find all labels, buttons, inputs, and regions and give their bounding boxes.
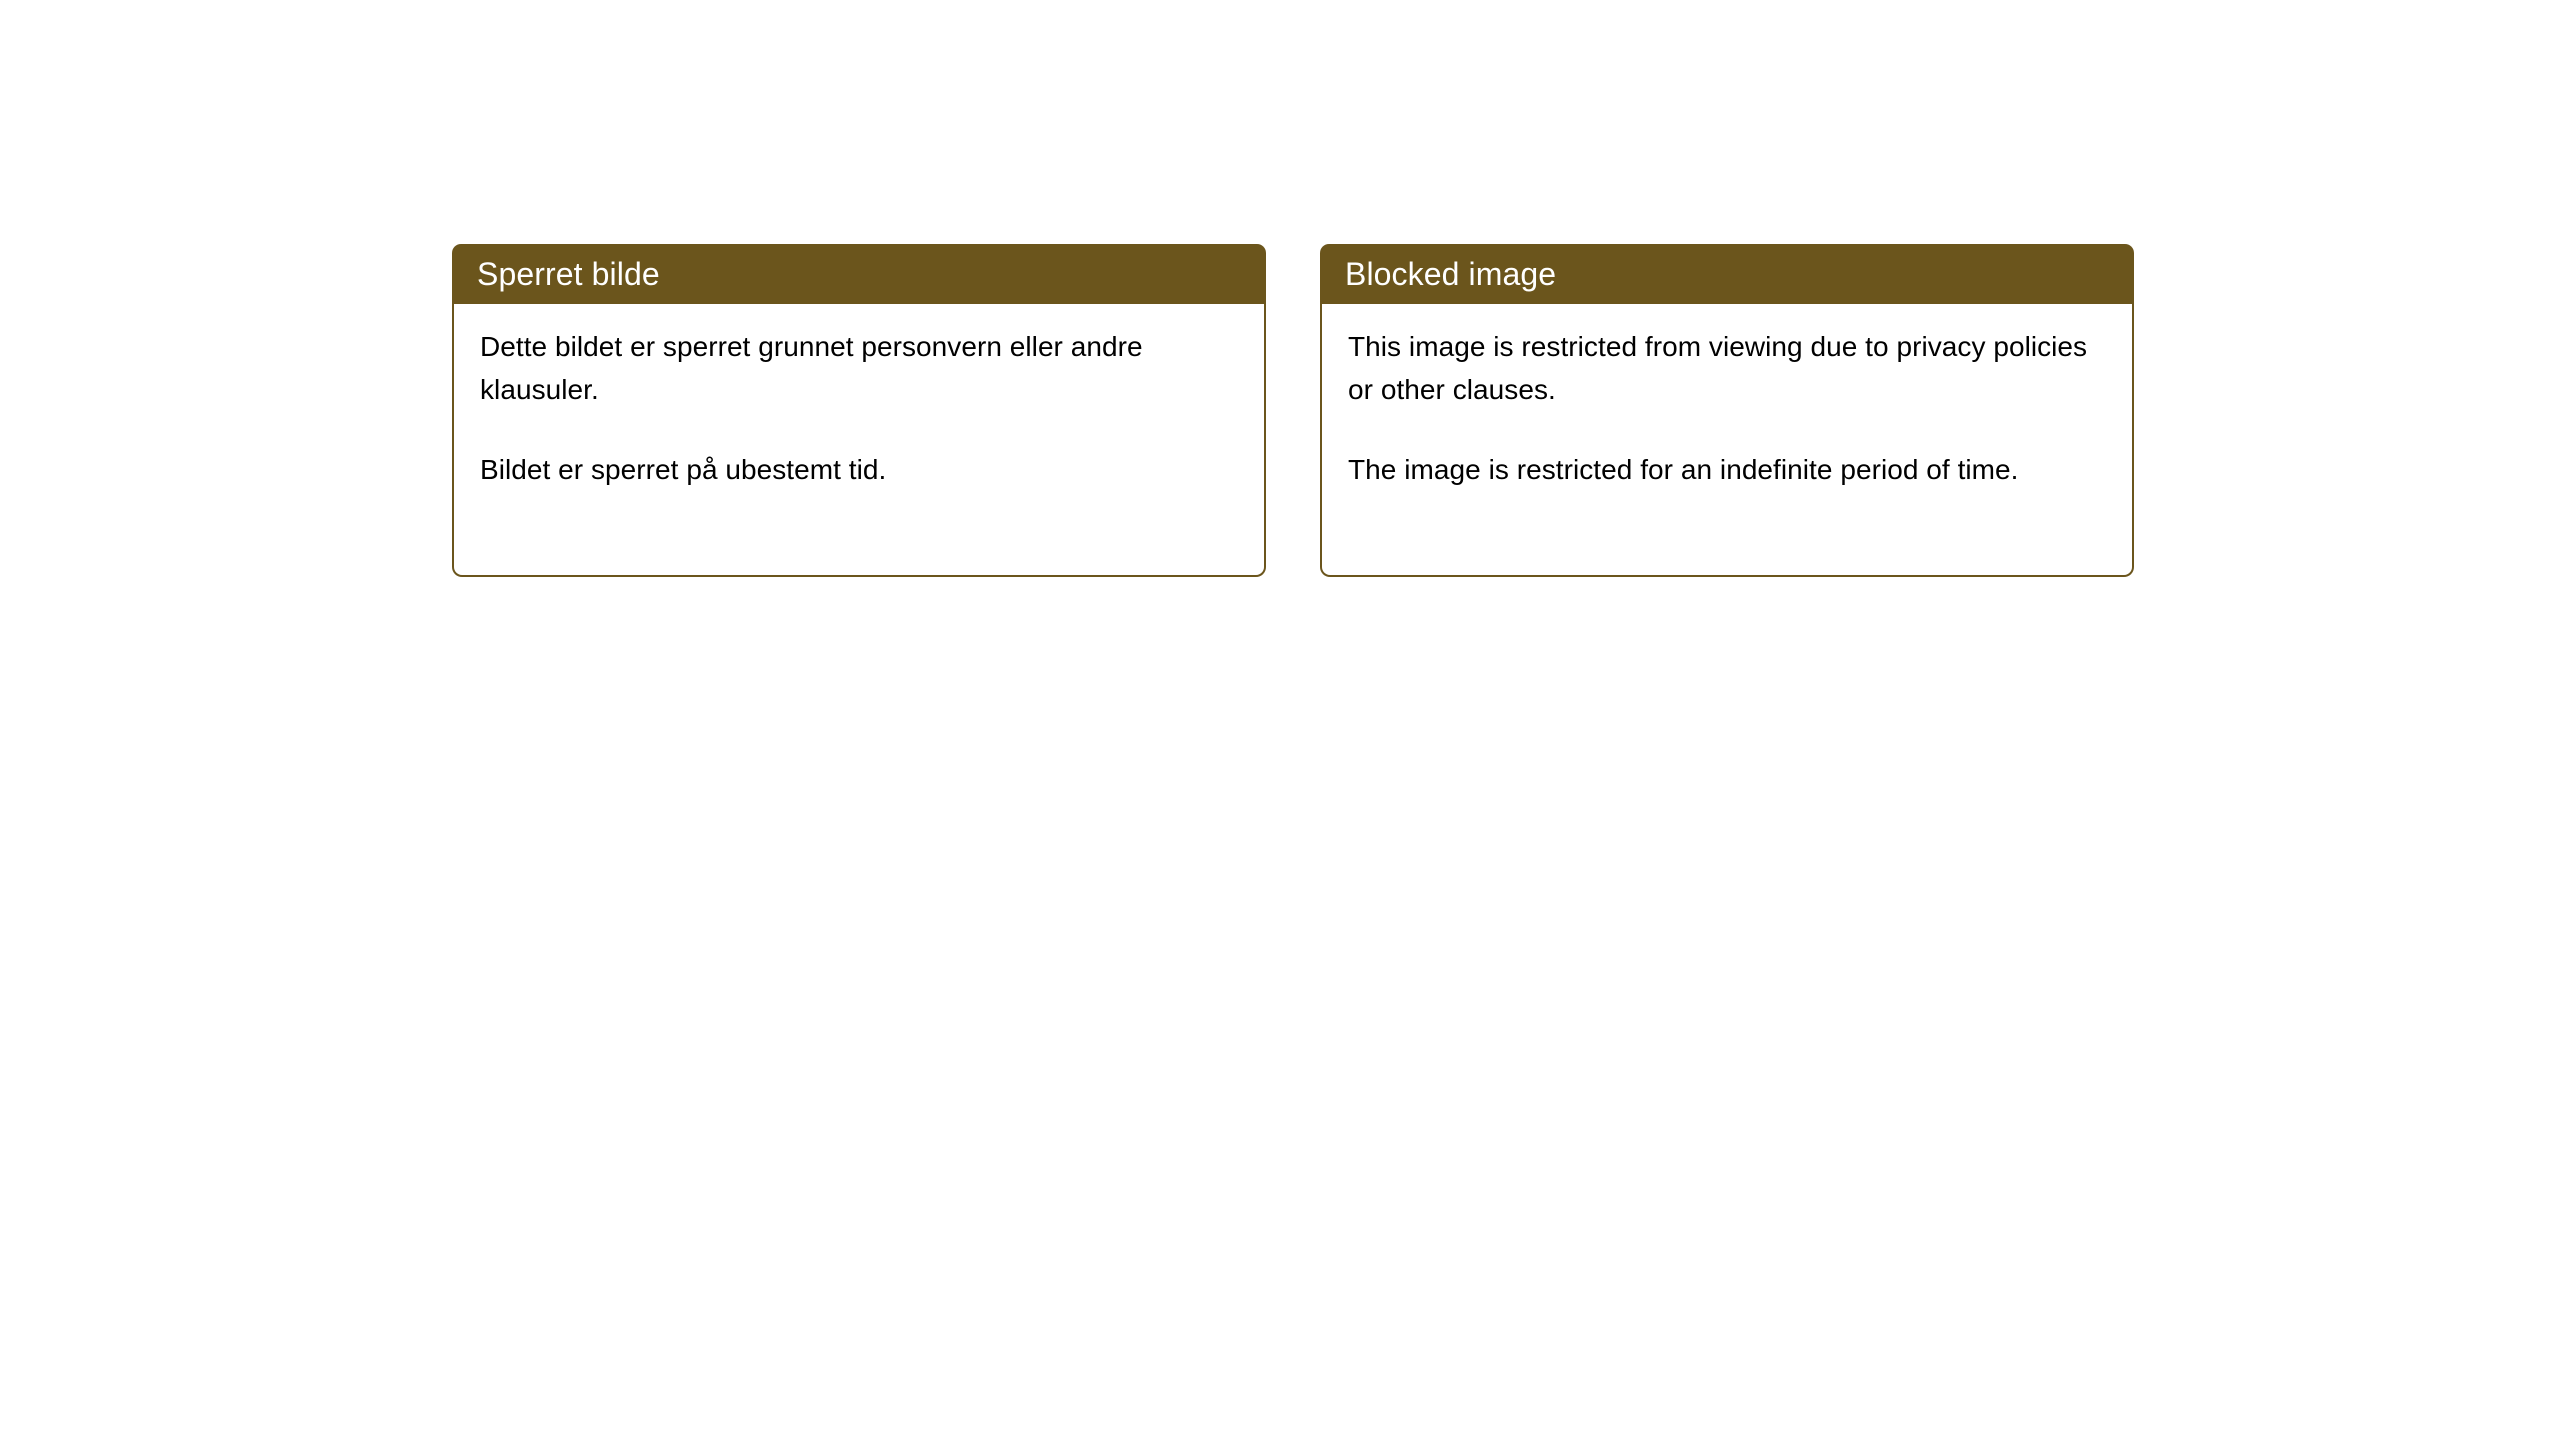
panel-title-norwegian: Sperret bilde (477, 256, 660, 292)
panel-header-norwegian: Sperret bilde (452, 244, 1266, 304)
panel-paragraph-reason-english: This image is restricted from viewing du… (1348, 325, 2108, 411)
panel-body-norwegian: Dette bildet er sperret grunnet personve… (452, 303, 1266, 577)
panel-paragraph-duration-english: The image is restricted for an indefinit… (1348, 448, 2108, 491)
page-canvas: Sperret bilde Dette bildet er sperret gr… (0, 0, 2560, 1440)
blocked-image-notice-norwegian: Sperret bilde Dette bildet er sperret gr… (452, 244, 1266, 577)
panel-body-english: This image is restricted from viewing du… (1320, 303, 2134, 577)
panel-paragraph-reason-norwegian: Dette bildet er sperret grunnet personve… (480, 325, 1240, 411)
panel-header-english: Blocked image (1320, 244, 2134, 304)
panel-title-english: Blocked image (1345, 256, 1556, 292)
blocked-image-notice-english: Blocked image This image is restricted f… (1320, 244, 2134, 577)
panel-paragraph-duration-norwegian: Bildet er sperret på ubestemt tid. (480, 448, 1240, 491)
